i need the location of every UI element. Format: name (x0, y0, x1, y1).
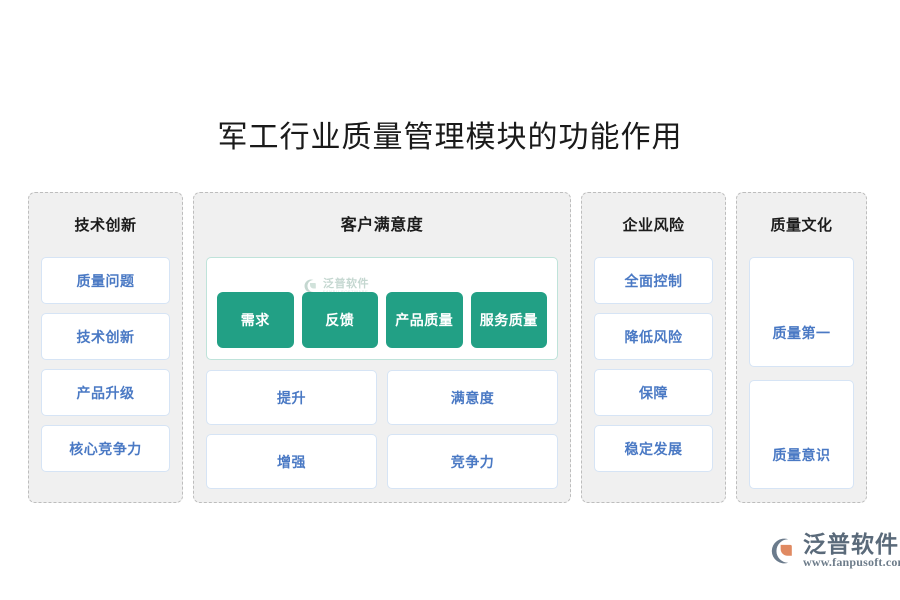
brand-logo: 泛普软件 www.fanpusoft.com (768, 532, 900, 569)
card-item[interactable]: 技术创新 (41, 313, 170, 360)
card-item[interactable]: 全面控制 (594, 257, 713, 304)
card-item[interactable]: 稳定发展 (594, 425, 713, 472)
card-list: 全面控制 降低风险 保障 稳定发展 (594, 257, 713, 489)
card-item[interactable]: 满意度 (387, 370, 558, 425)
fanpu-logo-icon (768, 536, 798, 566)
card-item[interactable]: 保障 (594, 369, 713, 416)
chip-panel: 需求 反馈 产品质量 服务质量 泛普软件 (206, 257, 558, 360)
columns-container: 技术创新 质量问题 技术创新 产品升级 核心竞争力 客户满意度 需求 反馈 产品… (28, 192, 873, 503)
card-item[interactable]: 质量第一 (749, 257, 854, 367)
card-item[interactable]: 提升 (206, 370, 377, 425)
chip-item[interactable]: 服务质量 (471, 292, 548, 348)
card-item[interactable]: 产品升级 (41, 369, 170, 416)
column-enterprise-risk: 企业风险 全面控制 降低风险 保障 稳定发展 (581, 192, 726, 503)
chip-item[interactable]: 反馈 (302, 292, 379, 348)
card-list: 质量第一 质量意识 (749, 257, 854, 489)
satisfaction-grid: 提升 满意度 增强 竞争力 (206, 370, 558, 489)
customer-satisfaction-body: 需求 反馈 产品质量 服务质量 泛普软件 (206, 257, 558, 489)
card-item[interactable]: 竞争力 (387, 434, 558, 489)
column-title: 客户满意度 (206, 193, 558, 257)
column-quality-culture: 质量文化 质量第一 质量意识 (736, 192, 867, 503)
column-title: 技术创新 (41, 193, 170, 257)
card-item[interactable]: 质量问题 (41, 257, 170, 304)
card-list: 质量问题 技术创新 产品升级 核心竞争力 (41, 257, 170, 489)
chip-item[interactable]: 需求 (217, 292, 294, 348)
brand-name: 泛普软件 (803, 532, 900, 556)
page-title: 军工行业质量管理模块的功能作用 (0, 118, 900, 158)
watermark-cn: 泛普软件 (323, 279, 369, 290)
brand-url: www.fanpusoft.com (803, 556, 900, 569)
column-title: 质量文化 (749, 193, 854, 257)
card-item[interactable]: 质量意识 (749, 380, 854, 490)
slide-root: 军工行业质量管理模块的功能作用 技术创新 质量问题 技术创新 产品升级 核心竞争… (0, 0, 900, 600)
card-item[interactable]: 降低风险 (594, 313, 713, 360)
column-title: 企业风险 (594, 193, 713, 257)
chip-item[interactable]: 产品质量 (386, 292, 463, 348)
column-customer-satisfaction: 客户满意度 需求 反馈 产品质量 服务质量 (193, 192, 571, 503)
card-item[interactable]: 核心竞争力 (41, 425, 170, 472)
brand-text: 泛普软件 www.fanpusoft.com (803, 532, 900, 569)
column-technology-innovation: 技术创新 质量问题 技术创新 产品升级 核心竞争力 (28, 192, 183, 503)
card-item[interactable]: 增强 (206, 434, 377, 489)
